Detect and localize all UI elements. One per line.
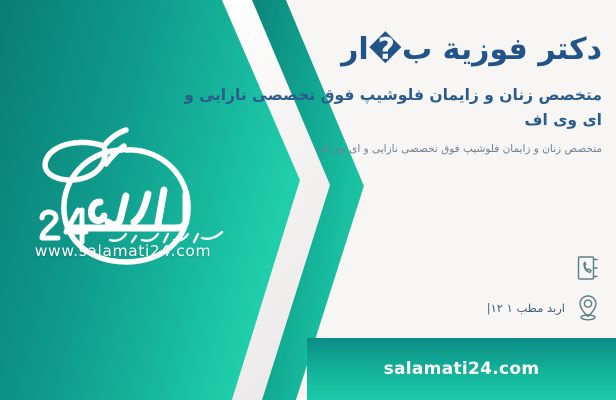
doctor-specialty-secondary: متخصص زنان و زایمان فلوشیپ فوق تخصصی ناز…	[182, 140, 602, 159]
doctor-specialty: متخصص زنان و زایمان فلوشیپ فوق تخصصی ناز…	[182, 83, 602, 134]
footer-website: salamati24.com	[384, 359, 540, 379]
profile-info: دکتر فوزية ب�ار متخصص زنان و زایمان فلوش…	[182, 30, 602, 159]
contact-row-phone[interactable]	[182, 248, 602, 288]
phone-book-icon	[574, 253, 602, 283]
contact-address-label: اربد مطب ۱ ۱۲|	[487, 300, 565, 316]
footer-bar[interactable]: salamati24.com	[307, 338, 616, 400]
wordmark-salamati	[68, 190, 186, 228]
business-card: www.salamati24.com دکتر فوزية ب�ار متخصص…	[0, 0, 616, 400]
contact-list: اربد مطب ۱ ۱۲|	[182, 248, 602, 328]
contact-row-address[interactable]: اربد مطب ۱ ۱۲|	[182, 288, 602, 328]
location-pin-icon	[574, 293, 602, 323]
doctor-name: دکتر فوزية ب�ار	[182, 30, 602, 71]
tagline-script	[110, 232, 222, 242]
